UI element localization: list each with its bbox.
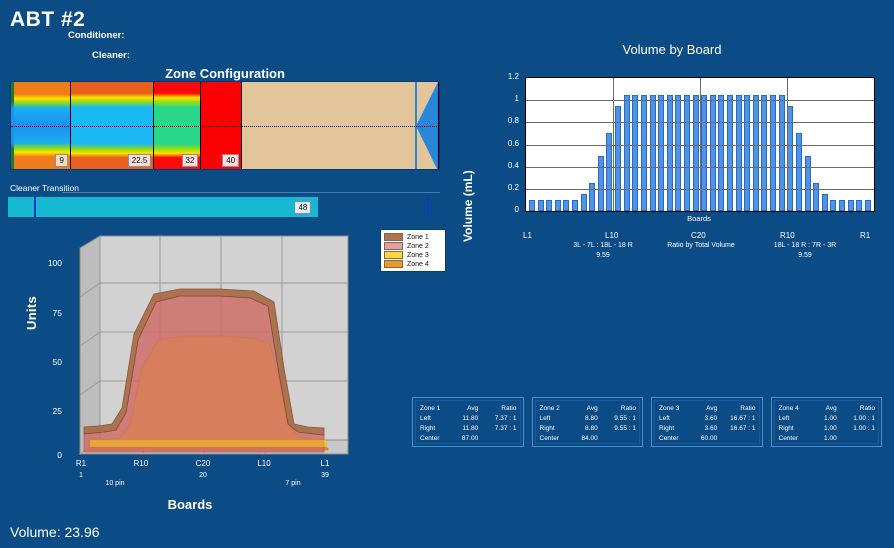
- zone-stat-cell: [481, 434, 516, 444]
- zone-stat-cell: Left: [540, 414, 570, 424]
- bar-C2[interactable]: [624, 95, 630, 211]
- zone-stat-cell: 7.37 : 1: [481, 424, 516, 434]
- zone-stat-cell: Avg: [689, 404, 720, 414]
- bar-xtick-r10: R10: [780, 231, 795, 240]
- zone-stat-cell: Left: [420, 414, 450, 424]
- zone-config-value-1[interactable]: 9: [55, 154, 67, 167]
- zone-stat-cell: 11.80: [450, 414, 481, 424]
- bar-C13[interactable]: [718, 95, 724, 211]
- zone-stat-cell: 87.00: [450, 434, 481, 444]
- zone-stat-cell: Avg: [808, 404, 839, 414]
- zone-stat-grid: Zone 3AvgRatioLeft3.6016.67 : 1Right3.60…: [659, 404, 756, 444]
- zone-stat-row-right: Right11.807.37 : 1: [420, 424, 517, 434]
- bar-C8[interactable]: [675, 95, 681, 211]
- bar-ytick-1_2: 1.2: [493, 72, 519, 81]
- bar-C20[interactable]: [779, 95, 785, 211]
- area-chart-ylabel: Units: [24, 296, 39, 330]
- bar-C5[interactable]: [650, 95, 656, 211]
- bar-chart-xlabel: Boards: [525, 214, 873, 223]
- zone-stat-cell: Zone 1: [420, 404, 450, 414]
- area-ytick-75: 75: [40, 308, 62, 318]
- zone-stat-grid: Zone 2AvgRatioLeft8.809.55 : 1Right8.809…: [540, 404, 637, 444]
- zone-stat-table-1: Zone 1AvgRatioLeft11.807.37 : 1Right11.8…: [412, 397, 524, 447]
- zone-stat-table-border: Zone 2AvgRatioLeft8.809.55 : 1Right8.809…: [535, 400, 641, 444]
- page-title: ABT #2: [10, 8, 85, 32]
- zone-stat-cell: Ratio: [481, 404, 516, 414]
- zone-stat-table-border: Zone 3AvgRatioLeft3.6016.67 : 1Right3.60…: [654, 400, 760, 444]
- bar-ytick-0_6: 0.6: [493, 139, 519, 148]
- zone-stat-row-right: Right1.001.00 : 1: [779, 424, 876, 434]
- zone-stat-cell: 8.80: [569, 414, 600, 424]
- bar-C7[interactable]: [667, 95, 673, 211]
- area-xsub-10pin: 10 pin: [98, 480, 132, 487]
- zone-stat-cell: Center: [659, 434, 689, 444]
- bar-L5[interactable]: [563, 200, 569, 211]
- bar-C17[interactable]: [753, 95, 759, 211]
- bar-ytick-0: 0: [493, 205, 519, 214]
- zone-stat-row-left: Left8.809.55 : 1: [540, 414, 637, 424]
- zone-stat-cell: 1.00: [808, 414, 839, 424]
- zone-stat-row-left: Left11.807.37 : 1: [420, 414, 517, 424]
- bar-ytick-0_2: 0.2: [493, 183, 519, 192]
- zone-stat-grid: Zone 4AvgRatioLeft1.001.00 : 1Right1.001…: [779, 404, 876, 444]
- bar-annotation-right-value: 9.59: [745, 252, 865, 259]
- zone-stat-cell: Ratio: [601, 404, 636, 414]
- bar-ytick-1: 1: [493, 94, 519, 103]
- zone-stat-table-4: Zone 4AvgRatioLeft1.001.00 : 1Right1.001…: [771, 397, 883, 447]
- zone-stat-row-right: Right8.809.55 : 1: [540, 424, 637, 434]
- zone-stat-cell: Avg: [569, 404, 600, 414]
- area-chart-xlabel: Boards: [100, 497, 280, 512]
- zone-stat-cell: Right: [659, 424, 689, 434]
- zone-stat-cell: Ratio: [720, 404, 755, 414]
- area-ytick-0: 0: [40, 450, 62, 460]
- cleaner-transition-value: 48: [294, 201, 311, 214]
- bar-annotation-right-text: 18L - 18 R : 7R - 3R: [745, 242, 865, 249]
- legend-label-1: Zone 1: [407, 234, 429, 241]
- bar-R8[interactable]: [805, 156, 811, 211]
- zone-stat-row-header: Zone 4AvgRatio: [779, 404, 876, 414]
- zone-stat-cell: Left: [779, 414, 809, 424]
- area-xtick-r1: R1: [66, 459, 96, 468]
- zone-stat-cell: Center: [420, 434, 450, 444]
- bar-C16[interactable]: [744, 95, 750, 211]
- zone-stat-cell: 3.60: [689, 414, 720, 424]
- area-ytick-50: 50: [40, 357, 62, 367]
- legend-item-1[interactable]: Zone 1: [384, 233, 442, 241]
- zone-stat-row-left: Left3.6016.67 : 1: [659, 414, 756, 424]
- bar-C18[interactable]: [761, 95, 767, 211]
- bar-C10[interactable]: [693, 95, 699, 211]
- bar-L6[interactable]: [572, 200, 578, 211]
- zone-stat-table-border: Zone 4AvgRatioLeft1.001.00 : 1Right1.001…: [774, 400, 880, 444]
- bar-ytick-0_8: 0.8: [493, 116, 519, 125]
- zone-config-value-4[interactable]: 40: [222, 154, 239, 167]
- zone-config-value-3[interactable]: 32: [182, 154, 199, 167]
- cleaner-transition-fill: [8, 197, 318, 217]
- bar-xtick-l10: L10: [605, 231, 618, 240]
- bar-R7[interactable]: [813, 183, 819, 211]
- bar-chart-ylabel: Volume (mL): [461, 170, 475, 242]
- zone-stat-table-3: Zone 3AvgRatioLeft3.6016.67 : 1Right3.60…: [651, 397, 763, 447]
- area-chart-canvas: [8, 228, 378, 513]
- bar-L1[interactable]: [529, 200, 535, 211]
- zone-stat-cell: 1.00: [808, 434, 839, 444]
- cleaner-transition-divider: [62, 192, 440, 193]
- bar-annotation-left-value: 9.59: [543, 252, 663, 259]
- cleaner-transition-segment: [8, 197, 34, 217]
- bar-gridline-v: [700, 78, 701, 211]
- zone-stat-row-header: Zone 3AvgRatio: [659, 404, 756, 414]
- zone-stat-cell: Zone 3: [659, 404, 689, 414]
- cleaner-transition-marker-end[interactable]: [427, 197, 429, 217]
- area-xsub-20: 20: [186, 472, 220, 479]
- bar-ytick-0_4: 0.4: [493, 161, 519, 170]
- cleaner-transition-marker-start[interactable]: [34, 197, 36, 217]
- legend-label-4: Zone 4: [407, 261, 429, 268]
- zone-stat-row-center: Center1.00: [779, 434, 876, 444]
- bar-R6[interactable]: [822, 194, 828, 211]
- conditioner-label: Conditioner:: [68, 30, 124, 41]
- zone-stat-cell: Ratio: [840, 404, 875, 414]
- area-xtick-l10: L10: [249, 459, 279, 468]
- zone-stat-cell: Right: [420, 424, 450, 434]
- area-xtick-r10: R10: [126, 459, 156, 468]
- zone-stat-cell: 1.00: [808, 424, 839, 434]
- legend-label-2: Zone 2: [407, 243, 429, 250]
- bar-chart-title: Volume by Board: [455, 42, 889, 57]
- legend-swatch-icon-2: [384, 242, 403, 250]
- zone-stat-row-right: Right3.6016.67 : 1: [659, 424, 756, 434]
- zone-stat-cell: Right: [779, 424, 809, 434]
- legend-swatch-icon-1: [384, 233, 403, 241]
- zone-stat-cell: 8.80: [569, 424, 600, 434]
- bar-L7[interactable]: [581, 194, 587, 211]
- zone-configuration-title: Zone Configuration: [0, 66, 450, 81]
- bar-R3[interactable]: [848, 200, 854, 211]
- area-xtick-c20: C20: [188, 459, 218, 468]
- bar-R2[interactable]: [856, 200, 862, 211]
- area-xtick-l1: L1: [310, 459, 340, 468]
- bar-C12[interactable]: [710, 95, 716, 211]
- area-xsub-7pin: 7 pin: [276, 480, 310, 487]
- bar-L8[interactable]: [589, 183, 595, 211]
- bar-R1[interactable]: [865, 200, 871, 211]
- legend-item-4[interactable]: Zone 4: [384, 260, 442, 268]
- zone-stat-row-center: Center87.00: [420, 434, 517, 444]
- area-ytick-25: 25: [40, 406, 62, 416]
- zone-stat-cell: Zone 2: [540, 404, 570, 414]
- bar-C11[interactable]: [701, 95, 707, 211]
- bar-xtick-r1: R1: [860, 231, 870, 240]
- bar-C14[interactable]: [727, 95, 733, 211]
- zone-stat-grid: Zone 1AvgRatioLeft11.807.37 : 1Right11.8…: [420, 404, 517, 444]
- area-ytick-100: 100: [40, 258, 62, 268]
- legend-swatch-icon-3: [384, 251, 403, 259]
- zone-statistics-tables: Zone 1AvgRatioLeft11.807.37 : 1Right11.8…: [412, 397, 882, 447]
- bar-C3[interactable]: [632, 95, 638, 211]
- zone-stat-row-left: Left1.001.00 : 1: [779, 414, 876, 424]
- zone-stat-cell: 9.55 : 1: [601, 414, 636, 424]
- bar-C6[interactable]: [658, 95, 664, 211]
- legend-item-3[interactable]: Zone 3: [384, 251, 442, 259]
- zone-stat-cell: 16.67 : 1: [720, 424, 755, 434]
- area-xsub-1: 1: [64, 472, 98, 479]
- zone-stat-cell: Avg: [450, 404, 481, 414]
- zone-stat-cell: 16.67 : 1: [720, 414, 755, 424]
- bar-C15[interactable]: [736, 95, 742, 211]
- zone-stat-cell: Center: [540, 434, 570, 444]
- bar-xtick-c20: C20: [691, 231, 706, 240]
- bar-L9[interactable]: [598, 156, 604, 211]
- zone-stat-cell: [601, 434, 636, 444]
- units-by-boards-area-chart[interactable]: 100 75 50 25 0 R1 R10 C20 L10 L1 1 10 pi…: [8, 228, 378, 513]
- cleaner-transition-slider[interactable]: 48: [8, 197, 442, 217]
- zone-centerline: [11, 126, 439, 127]
- zone-stat-table-2: Zone 2AvgRatioLeft8.809.55 : 1Right8.809…: [532, 397, 644, 447]
- bar-L3[interactable]: [546, 200, 552, 211]
- bar-R4[interactable]: [839, 200, 845, 211]
- bar-gridline-v: [787, 78, 788, 211]
- cleaner-label: Cleaner:: [92, 50, 130, 61]
- bar-chart-plot-area: [525, 77, 875, 212]
- total-volume-label: Volume: 23.96: [10, 524, 100, 540]
- bar-annotation-center-text: Ratio by Total Volume: [641, 242, 761, 249]
- zone-stat-row-center: Center60.00: [659, 434, 756, 444]
- zone-stat-cell: Left: [659, 414, 689, 424]
- bar-gridline-v: [613, 78, 614, 211]
- bar-C4[interactable]: [641, 95, 647, 211]
- bar-C19[interactable]: [770, 95, 776, 211]
- zone-stat-row-header: Zone 1AvgRatio: [420, 404, 517, 414]
- zone-stat-cell: 11.80: [450, 424, 481, 434]
- bar-xtick-l1: L1: [523, 231, 532, 240]
- zone-stat-cell: Right: [540, 424, 570, 434]
- zone-stat-cell: [840, 434, 875, 444]
- zone-config-value-2[interactable]: 22.5: [128, 154, 152, 167]
- zone-stat-cell: 1.00 : 1: [840, 414, 875, 424]
- zone-stat-table-border: Zone 1AvgRatioLeft11.807.37 : 1Right11.8…: [415, 400, 521, 444]
- bar-R5[interactable]: [830, 200, 836, 211]
- zone-stat-cell: 3.60: [689, 424, 720, 434]
- bar-C9[interactable]: [684, 95, 690, 211]
- bar-L4[interactable]: [555, 200, 561, 211]
- zone-stat-cell: Center: [779, 434, 809, 444]
- bar-L2[interactable]: [538, 200, 544, 211]
- zone-stat-cell: 9.55 : 1: [601, 424, 636, 434]
- zone-stat-cell: [720, 434, 755, 444]
- volume-by-board-chart[interactable]: Volume by Board Volume (mL) Boards L1 L1…: [455, 42, 889, 267]
- zone-stat-cell: 60.00: [689, 434, 720, 444]
- zone-stat-row-header: Zone 2AvgRatio: [540, 404, 637, 414]
- area-chart-legend[interactable]: Zone 1Zone 2Zone 3Zone 4: [380, 229, 446, 272]
- area-xsub-39: 39: [308, 472, 342, 479]
- legend-label-3: Zone 3: [407, 252, 429, 259]
- zone-stat-cell: 84.00: [569, 434, 600, 444]
- zone-stat-cell: 1.00 : 1: [840, 424, 875, 434]
- legend-swatch-icon-4: [384, 260, 403, 268]
- zone-stat-cell: Zone 4: [779, 404, 809, 414]
- zone-stat-cell: 7.37 : 1: [481, 414, 516, 424]
- legend-item-2[interactable]: Zone 2: [384, 242, 442, 250]
- zone-stat-row-center: Center84.00: [540, 434, 637, 444]
- zone-configuration-panel[interactable]: 922.53240: [10, 81, 440, 170]
